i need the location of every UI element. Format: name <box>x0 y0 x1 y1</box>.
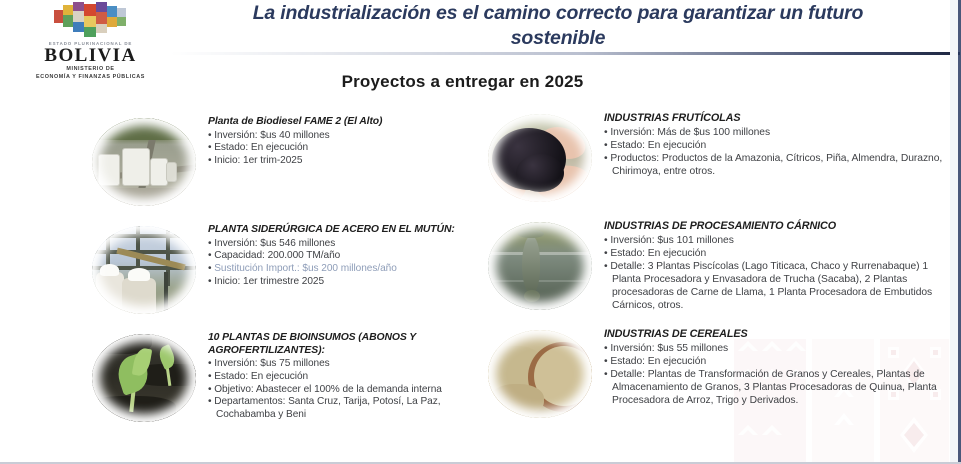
bullet: Inversión: Más de $us 100 millones <box>604 126 956 139</box>
bolivia-emblem-icon <box>54 2 128 40</box>
project-item: PLANTA SIDERÚRGICA DE ACERO EN EL MUTÚN:… <box>88 220 498 320</box>
seedling-sprout-photo <box>92 334 196 422</box>
bullet: Estado: En ejecución <box>208 142 498 155</box>
left-project-column: Planta de Biodiesel FAME 2 (El Alto) Inv… <box>88 112 498 436</box>
bullet: Inicio: 1er trimestre 2025 <box>208 276 498 289</box>
bullet: Inversión: $us 40 millones <box>208 130 498 143</box>
bullet: Inversión: $us 101 millones <box>604 234 956 247</box>
slide-subtitle: Proyectos a entregar en 2025 <box>0 72 925 92</box>
biodiesel-plant-aerial-photo <box>92 118 196 206</box>
bullet: Estado: En ejecución <box>604 247 956 260</box>
project-heading: Planta de Biodiesel FAME 2 (El Alto) <box>208 116 498 129</box>
bullet: Inversión: $us 55 millones <box>604 342 956 355</box>
project-thumbnail <box>484 216 596 316</box>
bullet: Detalle: Plantas de Transformación de Gr… <box>604 368 956 407</box>
bullet: Estado: En ejecución <box>604 139 956 152</box>
project-heading: INDUSTRIAS FRUTÍCOLAS <box>604 112 956 125</box>
presentation-slide: ESTADO PLURINACIONAL DE BOLIVIA MINISTER… <box>0 0 961 464</box>
project-thumbnail <box>484 108 596 208</box>
project-heading: 10 PLANTAS DE BIOINSUMOS (ABONOS Y AGROF… <box>208 332 498 357</box>
project-bullets: Inversión: $us 40 millones Estado: En ej… <box>208 130 498 168</box>
header-divider <box>170 52 960 55</box>
ministry-logo: ESTADO PLURINACIONAL DE BOLIVIA MINISTER… <box>8 2 173 74</box>
berries-in-hands-photo <box>488 114 592 202</box>
bullet: Departamentos: Santa Cruz, Tarija, Potos… <box>208 396 498 421</box>
project-heading: PLANTA SIDERÚRGICA DE ACERO EN EL MUTÚN: <box>208 224 498 237</box>
logo-country-text: BOLIVIA <box>8 46 173 65</box>
bullet: Inversión: $us 75 millones <box>208 358 498 371</box>
bullet: Sustitución Import.: $us 200 millones/añ… <box>208 263 498 276</box>
project-item: INDUSTRIAS DE CEREALES Inversión: $us 55… <box>484 324 956 424</box>
bullet: Estado: En ejecución <box>604 355 956 368</box>
bullet: Detalle: 3 Plantas Piscícolas (Lago Titi… <box>604 260 956 312</box>
grain-bowl-photo <box>488 330 592 418</box>
project-heading: INDUSTRIAS DE PROCESAMIENTO CÁRNICO <box>604 220 956 233</box>
project-thumbnail <box>88 220 200 320</box>
bullet: Capacidad: 200.000 TM/año <box>208 250 498 263</box>
fish-in-water-photo <box>488 222 592 310</box>
project-bullets: Inversión: $us 101 millones Estado: En e… <box>604 234 956 312</box>
project-thumbnail <box>484 324 596 424</box>
project-thumbnail <box>88 328 200 428</box>
project-item: INDUSTRIAS DE PROCESAMIENTO CÁRNICO Inve… <box>484 216 956 316</box>
project-bullets: Inversión: $us 55 millones Estado: En ej… <box>604 342 956 407</box>
bullet: Inversión: $us 546 millones <box>208 238 498 251</box>
project-item: Planta de Biodiesel FAME 2 (El Alto) Inv… <box>88 112 498 212</box>
slide-right-margin <box>950 0 958 464</box>
bullet: Estado: En ejecución <box>208 371 498 384</box>
right-project-column: INDUSTRIAS FRUTÍCOLAS Inversión: Más de … <box>484 108 956 432</box>
bullet: Productos: Productos de la Amazonia, Cít… <box>604 152 956 178</box>
project-bullets: Inversión: Más de $us 100 millones Estad… <box>604 126 956 178</box>
project-heading: INDUSTRIAS DE CEREALES <box>604 328 956 341</box>
project-bullets: Inversión: $us 546 millones Capacidad: 2… <box>208 238 498 289</box>
project-item: 10 PLANTAS DE BIOINSUMOS (ABONOS Y AGROF… <box>88 328 498 428</box>
project-item: INDUSTRIAS FRUTÍCOLAS Inversión: Más de … <box>484 108 956 208</box>
project-thumbnail <box>88 112 200 212</box>
bullet: Objetivo: Abastecer el 100% de la demand… <box>208 384 498 397</box>
steel-plant-construction-photo <box>92 226 196 314</box>
project-bullets: Inversión: $us 75 millones Estado: En ej… <box>208 358 498 422</box>
bullet: Inicio: 1er trim-2025 <box>208 155 498 168</box>
slide-title: La industrialización es el camino correc… <box>238 1 878 51</box>
